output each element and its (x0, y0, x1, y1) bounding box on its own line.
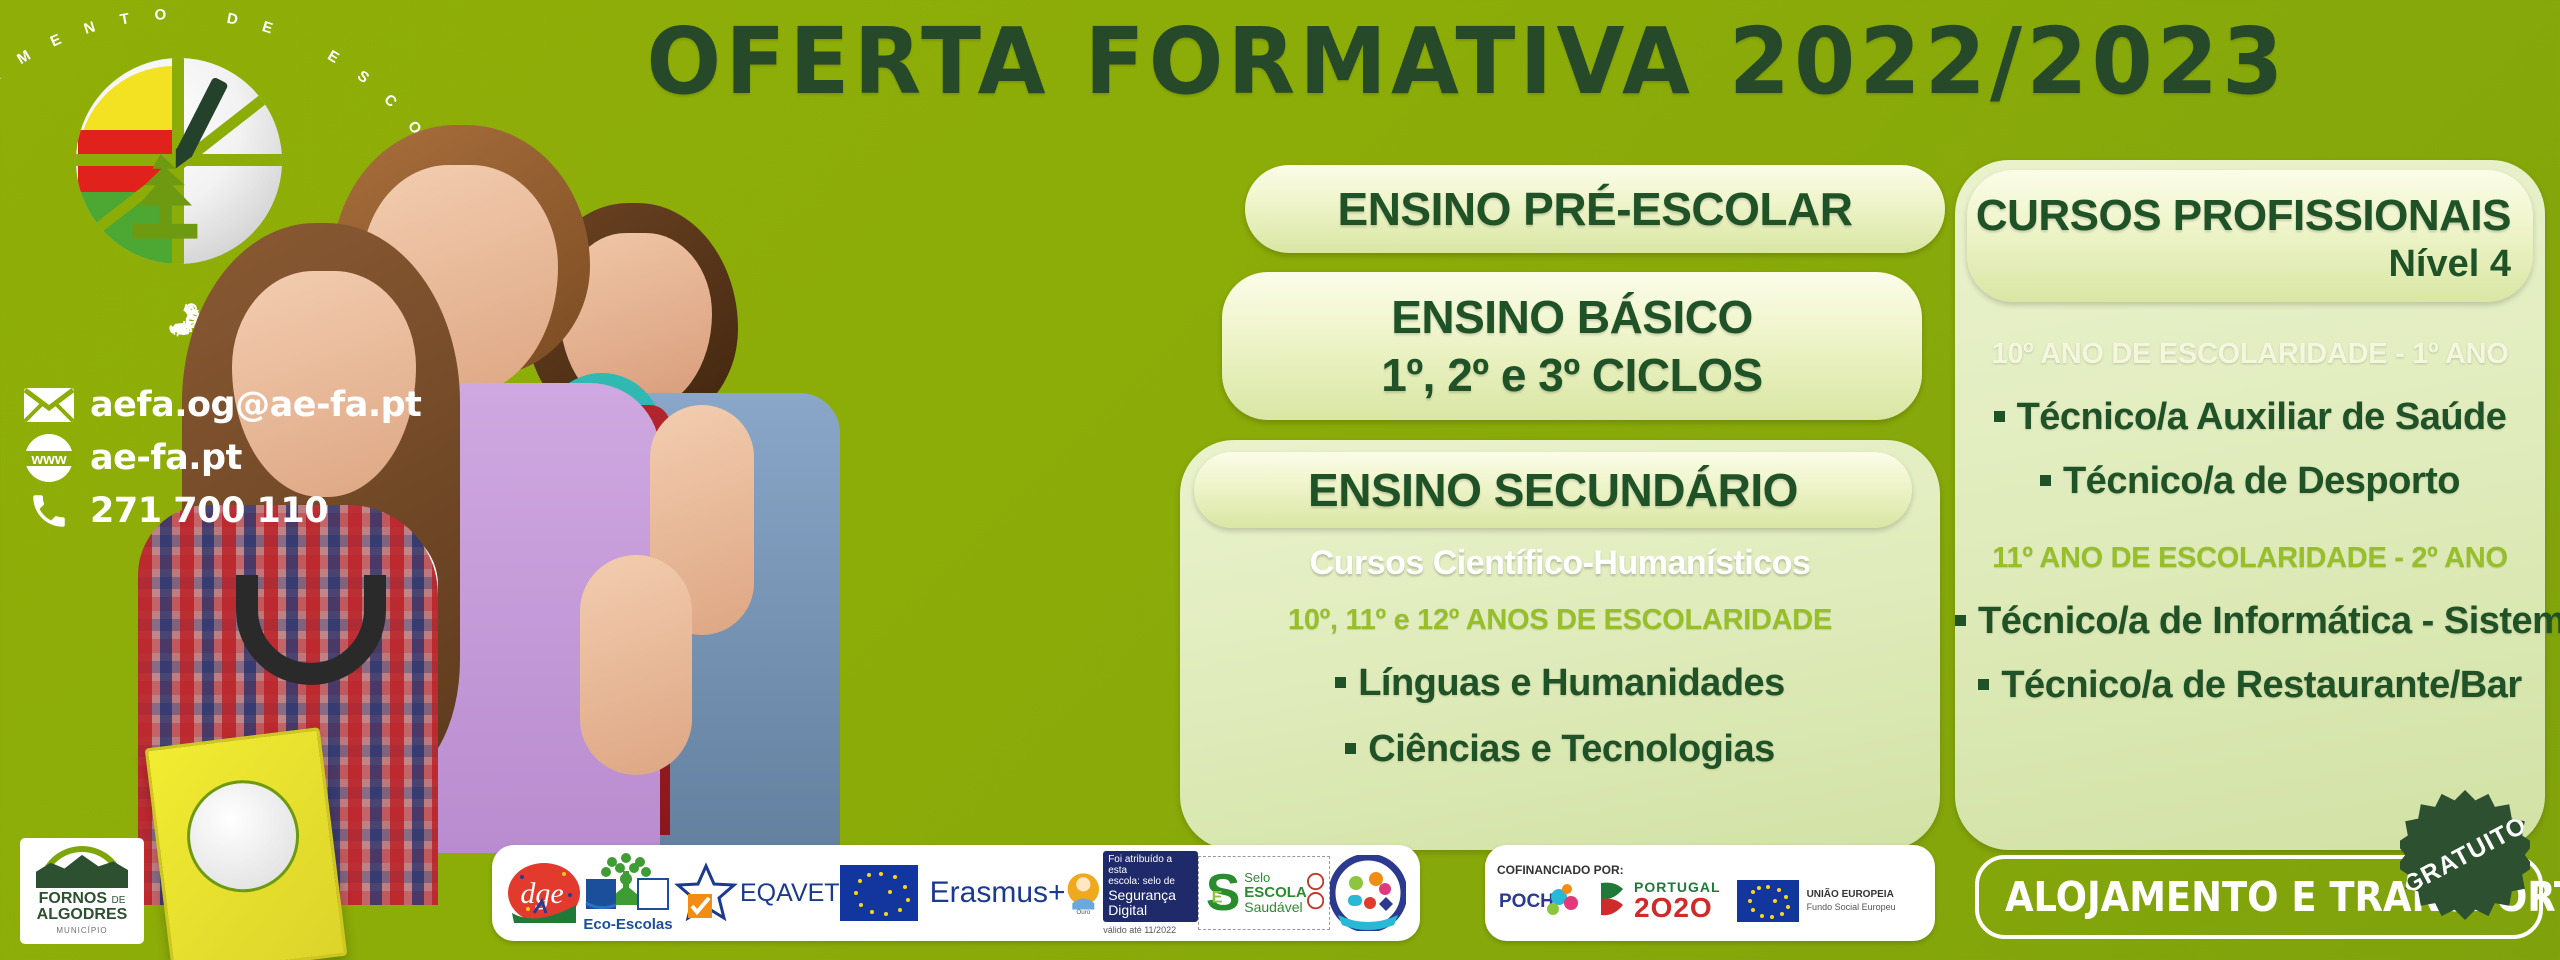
secundario-years: 10º, 11º e 12º ANOS DE ESCOLARIDADE (1180, 604, 1940, 637)
svg-text:www: www (30, 451, 66, 468)
erasmus-plus-label: Erasmus+ (930, 876, 1066, 910)
pre-escolar-heading: ENSINO PRÉ-ESCOLAR (1338, 182, 1853, 236)
photo-book-seal-icon (181, 774, 306, 899)
selo-word2: ESCOLA (1244, 885, 1307, 901)
phone-icon (22, 491, 76, 531)
profissionais-course-2-1: Técnico/a de Informática - Sistemas (1955, 600, 2545, 643)
portugal-2020-bottom: 2O2O (1634, 894, 1721, 922)
bullet-icon (2040, 475, 2051, 486)
photo-hand-thumbsup-2 (580, 555, 692, 775)
eco-escolas-logo: Eco-Escolas (582, 853, 674, 933)
seguranca-validity: válido até 11/2022 (1103, 925, 1198, 935)
profissionais-year-label-1: 10º ANO DE ESCOLARIDADE - 1º ANO (1955, 338, 2545, 371)
seguranca-digital-logo: Ouro Foi atribuído a esta escola: selo d… (1066, 851, 1198, 935)
contact-website-value: ae-fa.pt (90, 438, 242, 478)
panel-ensino-secundario[interactable]: ENSINO SECUNDÁRIO Cursos Científico-Huma… (1180, 440, 1940, 850)
uniao-europeia-logo: UNIÃO EUROPEIA Fundo Social Europeu (1737, 880, 1896, 922)
partners-logo-bar: dge Eco-Escolas EQAVET (492, 845, 1420, 941)
globe-icon: www (22, 438, 76, 478)
gratuito-label: GRATUITO (2398, 810, 2532, 900)
poch-logo: POCH (1497, 881, 1581, 921)
contact-row-phone: 271 700 110 (22, 491, 421, 531)
profissionais-course-1-1: Técnico/a Auxiliar de Saúde (1955, 396, 2545, 439)
secundario-course-2: Ciências e Tecnologias (1180, 728, 1940, 771)
profissionais-heading: CURSOS PROFISSIONAIS (1976, 191, 2511, 241)
photo-yellow-book (145, 727, 348, 960)
svg-text:E: E (1212, 889, 1223, 907)
profissionais-course-2-2: Técnico/a de Restaurante/Bar (1955, 664, 2545, 707)
uniao-europeia-bottom: Fundo Social Europeu (1807, 902, 1896, 913)
seguranca-line2: escola: selo de (1108, 876, 1193, 887)
municipality-hill-icon (36, 844, 128, 888)
secundario-subtitle: Cursos Científico-Humanísticos (1180, 544, 1940, 583)
selo-escola-saudavel-logo: S E Selo ESCOLA Saudável (1198, 856, 1330, 930)
profissionais-heading-pill: CURSOS PROFISSIONAIS Nível 4 (1967, 170, 2533, 302)
panel-pre-escolar[interactable]: ENSINO PRÉ-ESCOLAR (1245, 165, 1945, 253)
bullet-icon (1335, 677, 1346, 688)
uniao-europeia-top: UNIÃO EUROPEIA (1807, 889, 1896, 902)
dge-logo: dge (506, 861, 582, 925)
secundario-heading-pill: ENSINO SECUNDÁRIO (1194, 452, 1912, 528)
erasmus-plus-logo: Erasmus+ (840, 865, 1066, 921)
municipality-logo: FORNOS DE ALGODRES MUNICÍPIO (20, 838, 144, 944)
panel-ensino-basico[interactable]: ENSINO BÁSICO 1º, 2º e 3º CICLOS (1222, 272, 1922, 420)
profissionais-course-1-2: Técnico/a de Desporto (1955, 460, 2545, 503)
eco-escolas-label: Eco-Escolas (583, 916, 672, 933)
contact-block: aefa.og@ae-fa.pt www ae-fa.pt 271 700 11… (22, 385, 421, 544)
bullet-icon (1978, 679, 1989, 690)
seguranca-line1: Foi atribuído a esta (1108, 854, 1193, 876)
poster-title: OFERTA FORMATIVA 2022/2023 (328, 8, 2560, 115)
profissionais-year-label-2: 11º ANO DE ESCOLARIDADE - 2º ANO (1955, 542, 2545, 575)
bullet-icon (1994, 411, 2005, 422)
seguranca-ouro-label: Ouro (1076, 909, 1090, 916)
seguranca-line3: Segurança Digital (1108, 888, 1193, 919)
svg-text:POCH: POCH (1499, 891, 1554, 912)
secundario-heading: ENSINO SECUNDÁRIO (1308, 463, 1798, 517)
cofinancing-label: COFINANCIADO POR: (1497, 863, 1624, 877)
bullet-icon (1345, 743, 1356, 754)
portugal-2020-logo: PORTUGAL 2O2O (1597, 879, 1721, 923)
municipality-name-line1: FORNOS DE (39, 891, 126, 907)
email-icon (22, 385, 76, 425)
selo-word1: Selo (1244, 871, 1307, 885)
panel-cursos-profissionais[interactable]: CURSOS PROFISSIONAIS Nível 4 10º ANO DE … (1955, 160, 2545, 850)
basico-heading: ENSINO BÁSICO (1391, 290, 1753, 344)
eqavet-logo: EQAVET (674, 862, 840, 924)
contact-phone-value: 271 700 110 (90, 491, 328, 531)
bullet-icon (1955, 615, 1966, 626)
municipality-subtitle: MUNICÍPIO (56, 926, 107, 935)
contact-email-value: aefa.og@ae-fa.pt (90, 385, 421, 425)
municipality-name-line2: ALGODRES (37, 907, 128, 924)
eu-flag-icon (1737, 880, 1799, 922)
innovative-learning-logo (1330, 855, 1406, 931)
eqavet-label: EQAVET (740, 879, 840, 908)
basico-subheading: 1º, 2º e 3º CICLOS (1381, 348, 1762, 402)
cofinancing-bar: COFINANCIADO POR: POCH PORTUGAL 2O2O (1485, 845, 1935, 941)
profissionais-level: Nível 4 (2388, 243, 2511, 286)
secundario-course-1: Línguas e Humanidades (1180, 662, 1940, 705)
contact-row-website: www ae-fa.pt (22, 438, 421, 478)
eu-flag-icon (840, 865, 918, 921)
contact-row-email: aefa.og@ae-fa.pt (22, 385, 421, 425)
selo-word3: Saudável (1244, 900, 1307, 915)
